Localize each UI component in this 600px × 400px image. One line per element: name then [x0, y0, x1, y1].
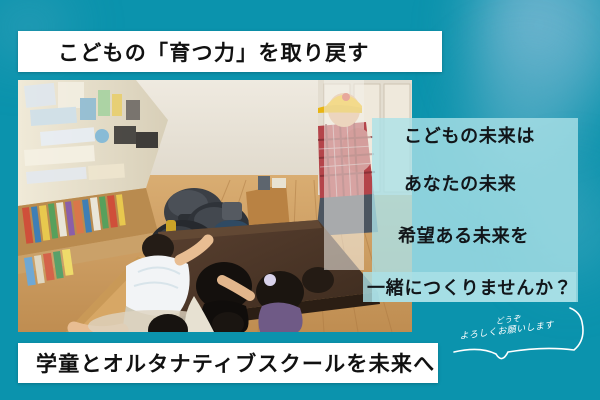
photo-classroom [18, 80, 412, 332]
message-line-3: 希望ある未来を [398, 222, 529, 248]
headline-bottom-text: 学童とオルタナティブスクールを未来へ [36, 348, 435, 378]
headline-top-banner: こどもの「育つ力」を取り戻す [18, 31, 442, 72]
bubble-outline-icon: どうぞ よろしくお願いします [452, 306, 592, 368]
message-line-2: あなたの未来 [404, 170, 516, 196]
headline-bottom-banner: 学童とオルタナティブスクールを未来へ [18, 343, 438, 383]
handwritten-bubble: どうぞ よろしくお願いします [452, 306, 592, 368]
message-line-1: こどもの未来は [404, 122, 535, 148]
headline-top-text: こどもの「育つ力」を取り戻す [58, 37, 370, 67]
message-line-4: 一緒につくりませんか？ [363, 272, 576, 302]
poster-canvas: こどもの「育つ力」を取り戻す [0, 0, 600, 400]
photo-illustration [18, 80, 412, 332]
